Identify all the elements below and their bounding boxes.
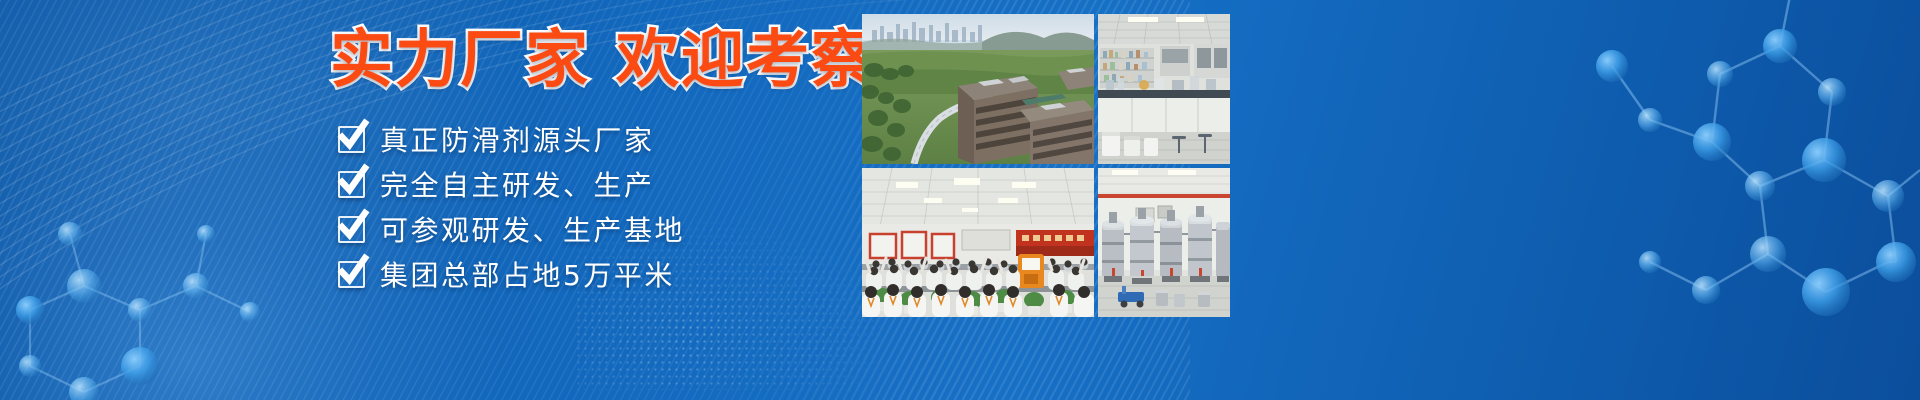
molecule-structure-right-icon xyxy=(1220,0,1920,400)
headline-part-1: 实力厂家 xyxy=(330,23,590,96)
feature-list: 真正防滑剂源头厂家 完全自主研发、生产 可参观研发、生产基地 集团总部占地5万平… xyxy=(338,118,858,298)
photo-laboratory xyxy=(1098,14,1230,164)
checkbox-checked-icon xyxy=(338,126,365,153)
list-item: 可参观研发、生产基地 xyxy=(338,208,858,250)
list-item-label: 完全自主研发、生产 xyxy=(380,164,655,204)
headline-part-2: 欢迎考察 xyxy=(616,23,876,96)
list-item-label: 集团总部占地5万平米 xyxy=(380,254,675,294)
photo-gallery xyxy=(862,14,1230,317)
banner-text-column: 实力厂家欢迎考察 真正防滑剂源头厂家 完全自主研发、生产 可参观研发、生产基地 xyxy=(0,0,860,400)
photo-production-equipment xyxy=(1098,168,1230,317)
promo-banner: 实力厂家欢迎考察 真正防滑剂源头厂家 完全自主研发、生产 可参观研发、生产基地 xyxy=(0,0,1920,400)
photo-aerial-campus xyxy=(862,14,1094,164)
checkbox-checked-icon xyxy=(338,216,365,243)
photo-staff-assembly xyxy=(862,168,1094,317)
checkbox-checked-icon xyxy=(338,261,365,288)
page-title: 实力厂家欢迎考察 xyxy=(330,28,876,92)
list-item-label: 真正防滑剂源头厂家 xyxy=(380,119,655,159)
list-item: 完全自主研发、生产 xyxy=(338,163,858,205)
checkbox-checked-icon xyxy=(338,171,365,198)
list-item: 集团总部占地5万平米 xyxy=(338,253,858,295)
list-item-label: 可参观研发、生产基地 xyxy=(380,209,685,249)
list-item: 真正防滑剂源头厂家 xyxy=(338,118,858,160)
